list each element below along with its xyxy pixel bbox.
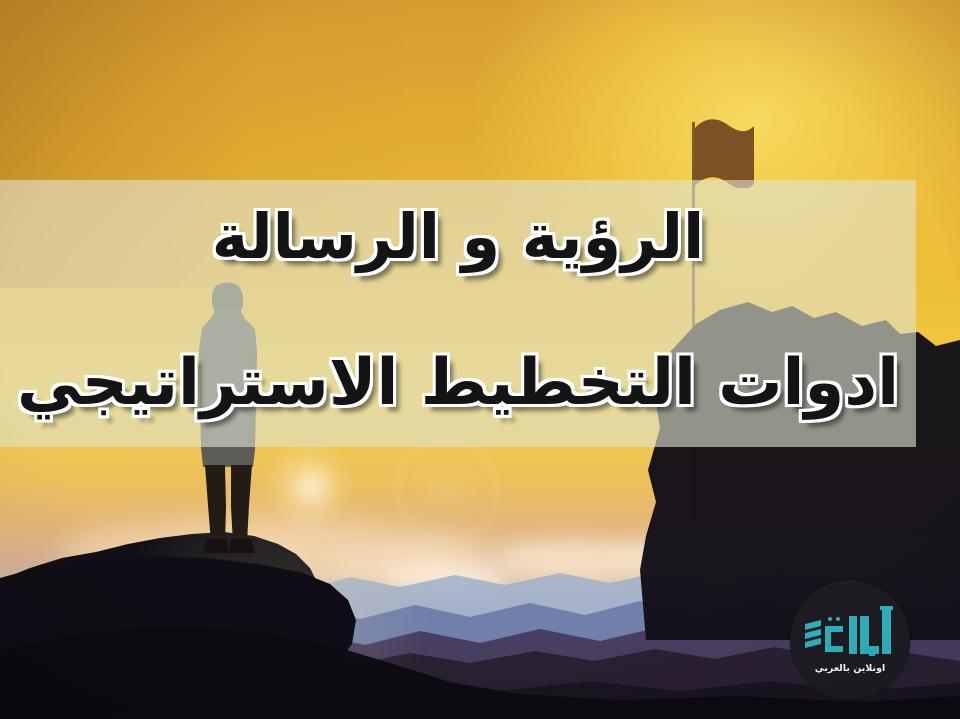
headline-line-1: الرؤية و الرسالة <box>0 204 916 269</box>
headline-line-2: ادوات التخطيط الاستراتيجي <box>0 350 916 417</box>
headline-block: الرؤية و الرسالة ادوات التخطيط الاستراتي… <box>0 180 916 447</box>
brand-tagline: اونلاين بالعربي <box>815 663 886 674</box>
flag-icon <box>694 116 766 188</box>
poster-canvas: الرؤية و الرسالة ادوات التخطيط الاستراتي… <box>0 0 960 719</box>
brand-logo-badge[interactable]: اونلاين بالعربي <box>790 580 910 700</box>
idara-wordmark-icon <box>803 606 897 662</box>
